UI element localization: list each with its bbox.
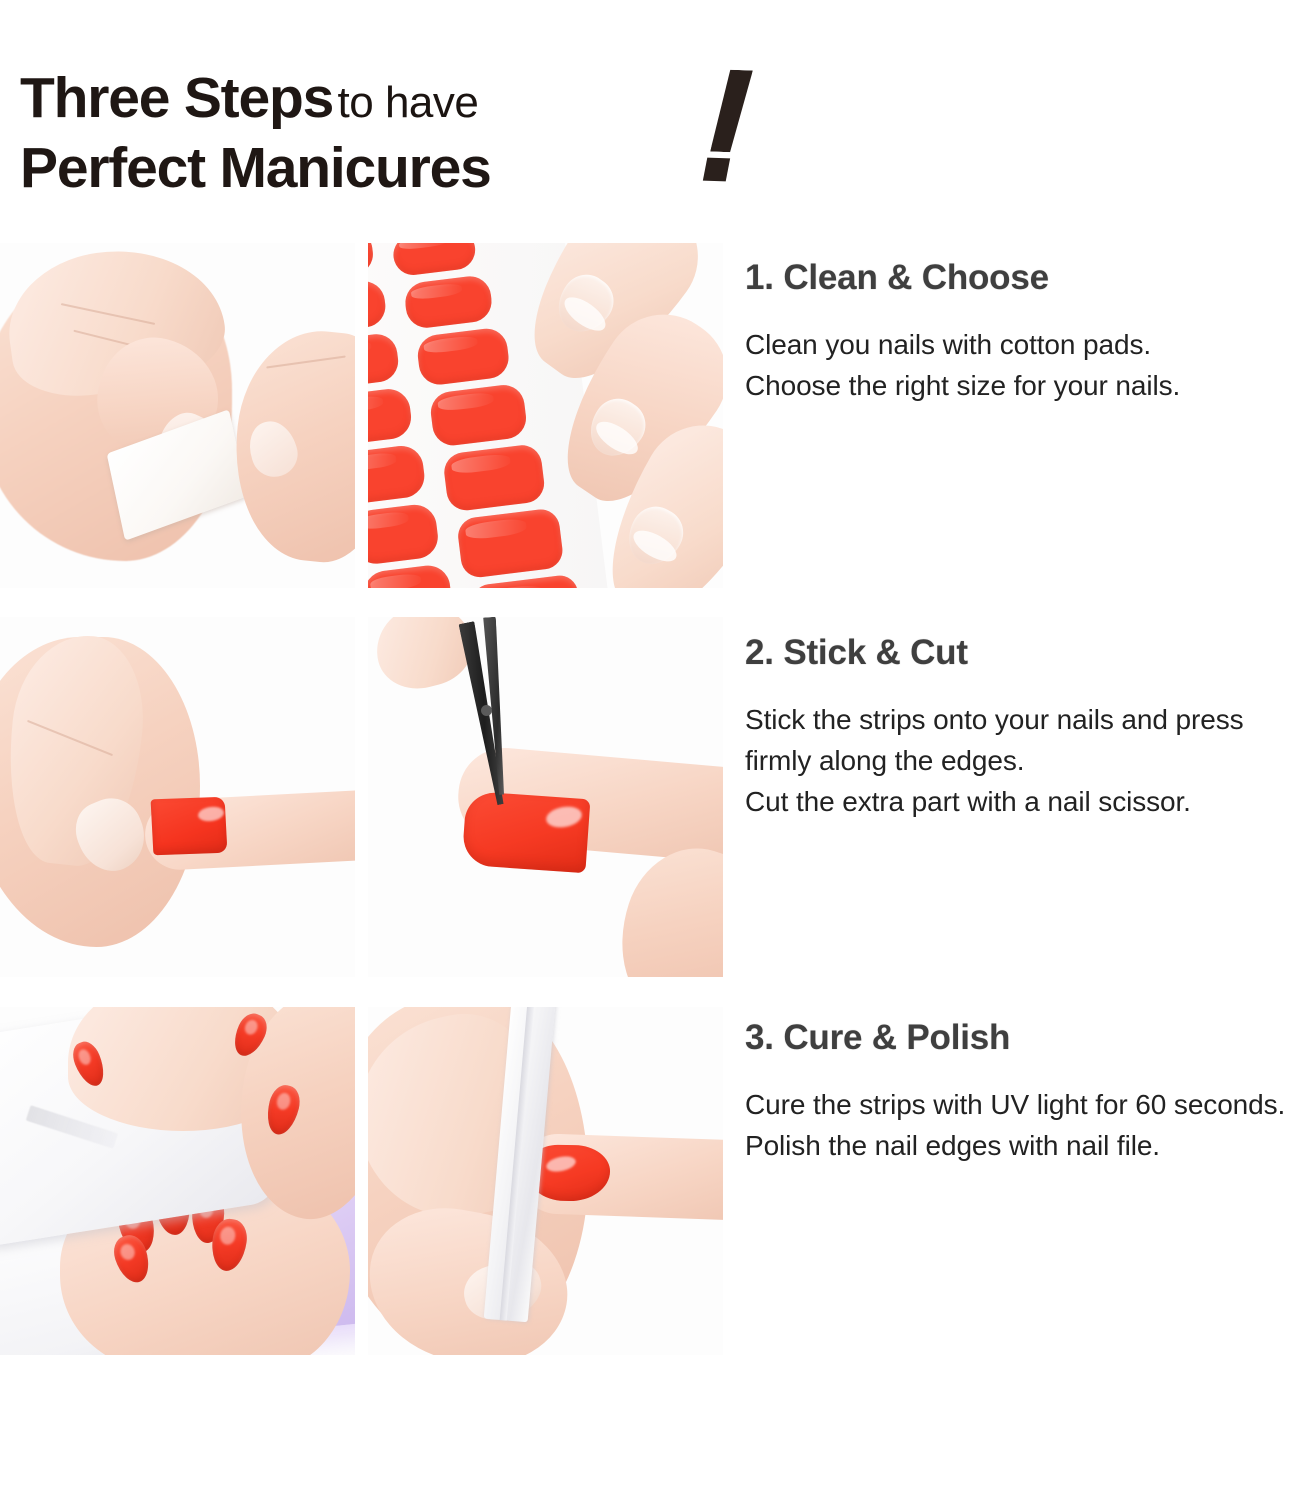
nail-strip [403,274,494,330]
step-1-line-1: Clean you nails with cotton pads. [745,324,1300,365]
nail-strip [368,332,401,389]
photo-clean-nail-with-cotton-pad [0,243,355,588]
photo-cure-under-uv-lamp [0,1007,355,1355]
nail-strip [368,387,414,446]
step-2-line-1: Stick the strips onto your nails and pre… [745,699,1300,781]
nail-strip [368,502,440,566]
photo-cut-extra-with-scissor [368,617,723,977]
nail-strip [368,563,454,588]
step-2: 2. Stick & Cut Stick the strips onto you… [745,633,1300,822]
nail-strip [368,243,375,281]
photo-polish-edges-with-file [368,1007,723,1355]
scissor-pivot-screw [481,705,492,716]
step-3-body: Cure the strips with UV light for 60 sec… [745,1084,1300,1166]
nail-strip [368,443,427,505]
title-bold-perfect-manicures: Perfect Manicures [20,136,491,200]
nail-strip [368,279,388,334]
title-line-1: Three Steps to have [20,70,478,127]
nail-strip [415,326,510,387]
step-1: 1. Clean & Choose Clean you nails with c… [745,258,1300,406]
step-3-line-2: Polish the nail edges with nail file. [745,1125,1300,1166]
photo-stick-strip-on-nail [0,617,355,977]
step-3-line-1: Cure the strips with UV light for 60 sec… [745,1084,1300,1125]
title-line-2: Perfect Manicures [20,140,491,197]
bare-fingers [503,243,723,588]
exclamation-dot [703,158,730,182]
exclamation-stem [710,70,753,153]
photo-choose-strip-size [368,243,723,588]
step-3: 3. Cure & Polish Cure the strips with UV… [745,1018,1300,1166]
step-1-heading: 1. Clean & Choose [745,258,1300,298]
nail-strip [391,243,477,277]
red-nail-strip [151,797,228,856]
title-bold-three-steps: Three Steps [20,66,333,130]
title-regular-to-have: to have [338,78,479,127]
step-1-body: Clean you nails with cotton pads. Choose… [745,324,1300,406]
step-3-heading: 3. Cure & Polish [745,1018,1300,1058]
step-1-line-2: Choose the right size for your nails. [745,365,1300,406]
red-coated-nail [462,791,591,873]
exclamation-mark-icon [700,70,790,200]
step-2-line-2: Cut the extra part with a nail scissor. [745,781,1300,822]
step-2-body: Stick the strips onto your nails and pre… [745,699,1300,822]
page-title: Three Steps to have Perfect Manicures [20,62,780,212]
step-2-heading: 2. Stick & Cut [745,633,1300,673]
